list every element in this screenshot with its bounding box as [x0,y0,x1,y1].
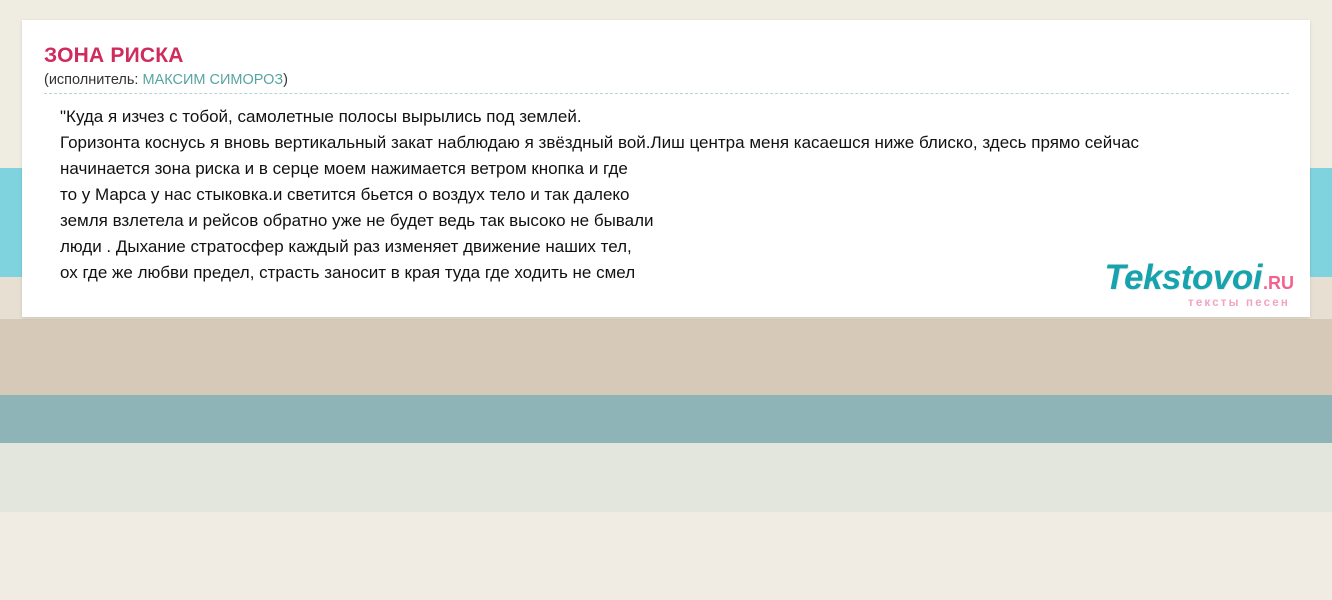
background-band-tan-main [0,319,1332,395]
title-separator [44,93,1289,94]
logo-main-row: Tekstovoi.RU [1104,260,1294,295]
background-band-bottom-cream [0,512,1332,600]
performer-suffix: ) [283,72,288,88]
site-logo-watermark: Tekstovoi.RU тексты песен [1104,260,1294,310]
lyrics-card: ЗОНА РИСКА (исполнитель: МАКСИМ СИМОРОЗ)… [22,20,1310,317]
logo-tagline: тексты песен [1104,298,1294,310]
background-band-sage [0,443,1332,512]
page-title: ЗОНА РИСКА [44,44,184,68]
performer-line: (исполнитель: МАКСИМ СИМОРОЗ) [44,72,288,88]
logo-tld: .RU [1263,274,1294,292]
logo-name: Tekstovoi [1104,260,1262,295]
background-band-teal-muted [0,395,1332,443]
performer-label: (исполнитель: [44,72,142,88]
performer-link[interactable]: МАКСИМ СИМОРОЗ [142,72,283,88]
